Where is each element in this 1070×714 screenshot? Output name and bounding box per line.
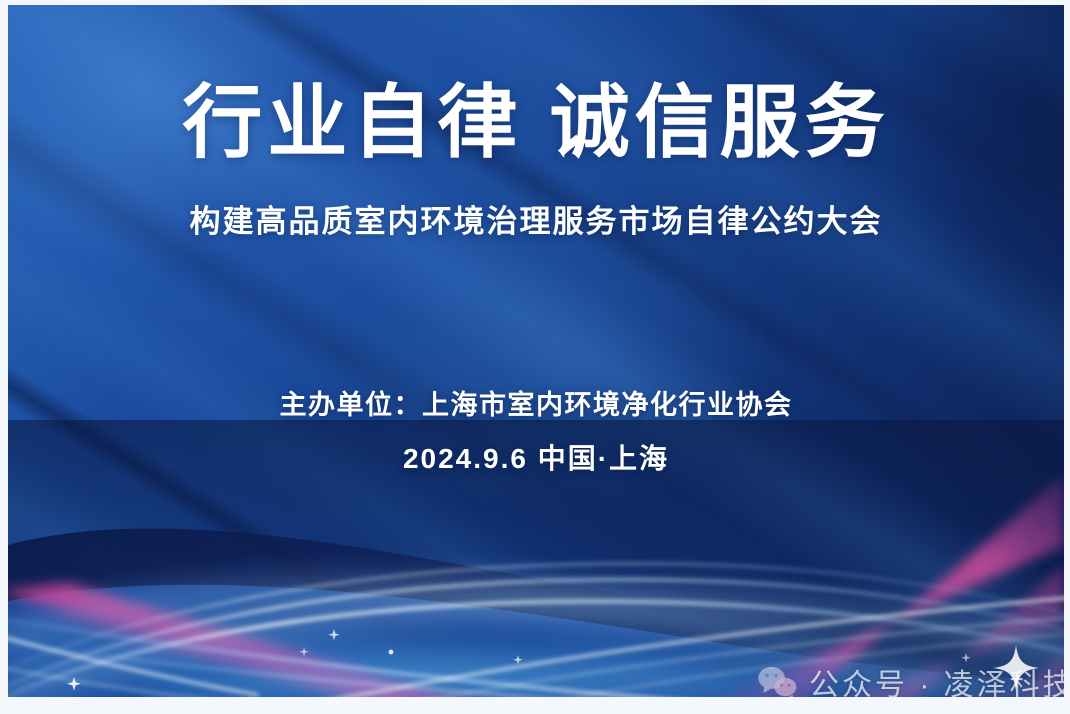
poster-canvas: 行业自律 诚信服务 构建高品质室内环境治理服务市场自律公约大会 主办单位：上海市… (0, 0, 1070, 714)
organizer-line: 主办单位：上海市室内环境净化行业协会 (8, 383, 1064, 422)
poster-frame: 行业自律 诚信服务 构建高品质室内环境治理服务市场自律公约大会 主办单位：上海市… (8, 5, 1064, 697)
date-location-line: 2024.9.6 中国·上海 (8, 437, 1064, 477)
page-subtitle: 构建高品质室内环境治理服务市场自律公约大会 (8, 205, 1064, 239)
wechat-icon (756, 663, 800, 697)
sparkle-star-icon (993, 645, 1039, 691)
page-title: 行业自律 诚信服务 (8, 83, 1064, 163)
